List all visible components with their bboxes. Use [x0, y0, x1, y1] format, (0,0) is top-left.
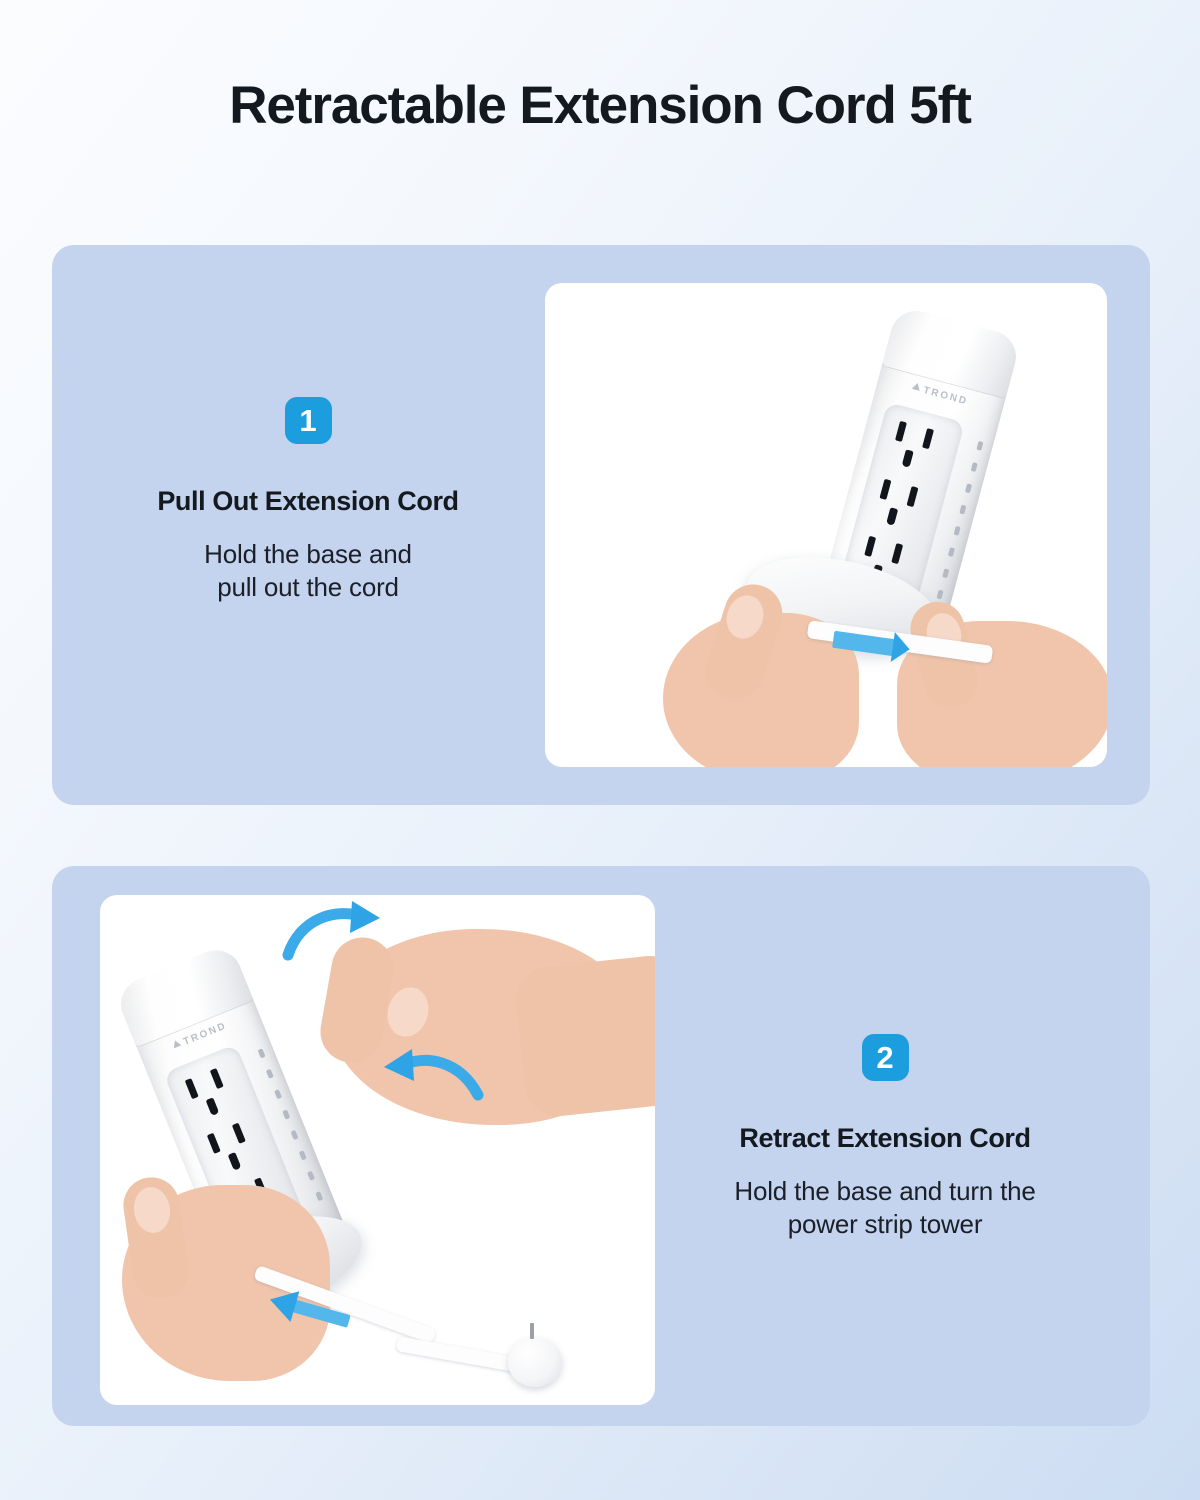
step-1-text-column: 1 Pull Out Extension Cord Hold the base …: [92, 397, 524, 604]
outlet-slot-left: [184, 1078, 198, 1099]
step-2-number-badge: 2: [862, 1034, 909, 1081]
outlet-slot-right: [891, 543, 903, 564]
outlet-slot-left: [880, 479, 892, 500]
step-2-text-column: 2 Retract Extension Cord Hold the base a…: [660, 1034, 1110, 1241]
step-2-photo-card: TROND: [100, 895, 655, 1405]
outlet-slot-left: [864, 536, 876, 557]
outlet-slot-right: [210, 1068, 224, 1089]
rotate-arrow-right-icon: [372, 1047, 484, 1109]
outlet-ground-hole: [901, 449, 913, 467]
extension-cord-lower: [396, 1336, 523, 1373]
brand-triangle-icon: [912, 382, 922, 391]
rotate-arrow-top: [282, 901, 394, 963]
step-2-product-illustration: TROND: [100, 895, 655, 1405]
rotate-arrow-top-icon: [282, 901, 394, 963]
step-1-photo-card: TROND: [545, 283, 1107, 767]
brand-triangle-icon: [172, 1039, 182, 1048]
outlet-ground-hole: [206, 1097, 220, 1116]
page-title: Retractable Extension Cord 5ft: [0, 78, 1200, 134]
outlet-slot-left: [895, 421, 907, 442]
outlet-1: [176, 1058, 250, 1126]
cord-plug-head: [508, 1337, 562, 1387]
outlet-2: [866, 473, 937, 537]
step-2-description: Hold the base and turn the power strip t…: [660, 1175, 1110, 1241]
outlet-slot-right: [232, 1123, 246, 1144]
step-1-product-illustration: TROND: [545, 283, 1107, 767]
step-panel-1: 1 Pull Out Extension Cord Hold the base …: [52, 245, 1150, 805]
outlet-1: [881, 415, 952, 479]
outlet-slot-left: [206, 1133, 220, 1154]
plug-prong: [530, 1323, 534, 1339]
outlet-ground-hole: [228, 1152, 242, 1171]
step-panel-2: TROND: [52, 866, 1150, 1426]
outlet-slot-right: [922, 428, 934, 449]
outlet-slot-right: [906, 486, 918, 507]
step-2-heading: Retract Extension Cord: [660, 1122, 1110, 1154]
upper-forearm: [513, 953, 655, 1120]
step-1-heading: Pull Out Extension Cord: [92, 485, 524, 517]
step-1-description: Hold the base and pull out the cord: [92, 538, 524, 604]
outlet-2: [198, 1112, 272, 1180]
rotate-arrow-right: [372, 1047, 484, 1109]
step-1-number-badge: 1: [285, 397, 332, 444]
outlet-ground-hole: [886, 507, 898, 525]
